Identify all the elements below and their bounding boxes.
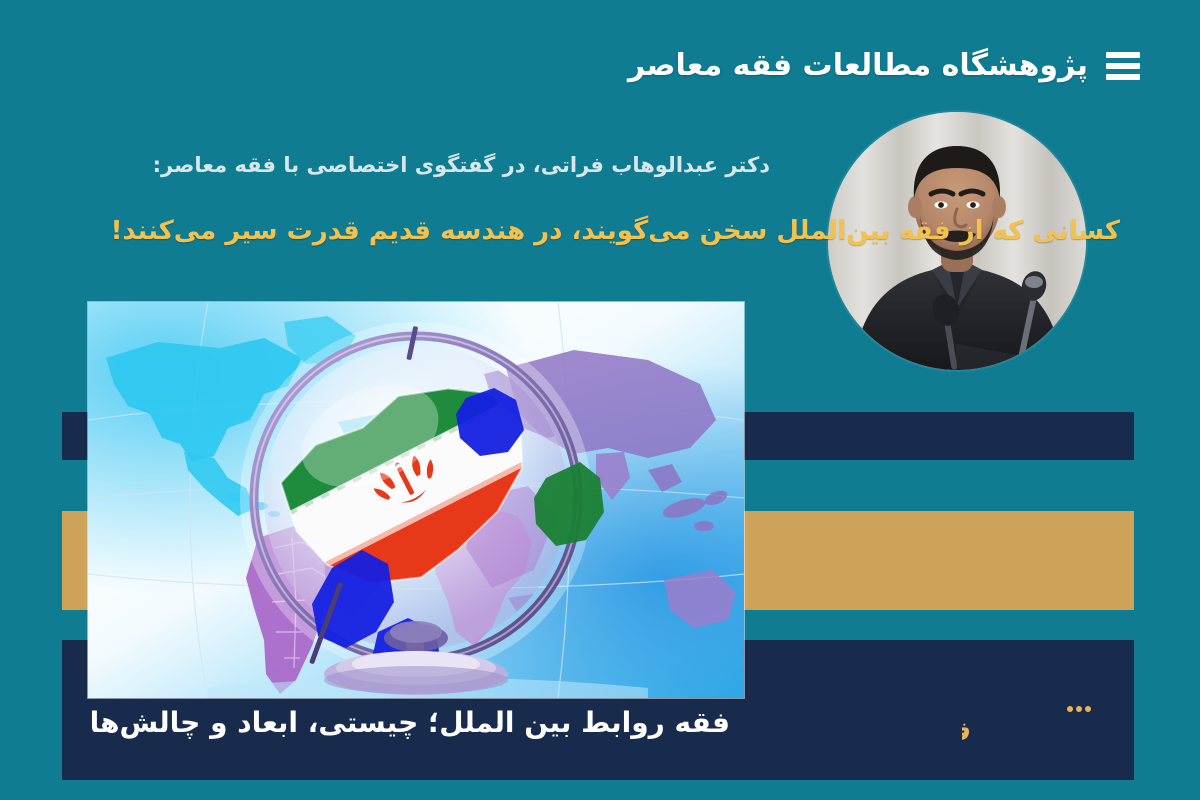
interview-headline: کسانی که از فقه بین‌الملل سخن می‌گویند، … xyxy=(170,212,1120,251)
poster-root: پژوهشگاه مطالعات فقه معاصر xyxy=(0,0,1200,800)
hamburger-bar-3 xyxy=(1106,74,1140,80)
site-header: پژوهشگاه مطالعات فقه معاصر xyxy=(60,34,1140,98)
brand-logo[interactable]: فقه معاصر xyxy=(962,700,1112,756)
article-illustration xyxy=(88,302,744,698)
interview-kicker: دکتر عبدالوهاب فراتی، در گفتگوی اختصاصی … xyxy=(170,150,770,182)
hamburger-menu-icon[interactable] xyxy=(1106,52,1140,80)
article-caption: فقه روابط بین الملل؛ چیستی، ابعاد و چالش… xyxy=(110,706,730,740)
hamburger-bar-1 xyxy=(1106,52,1140,58)
svg-text:فقه معاصر: فقه معاصر xyxy=(962,717,974,747)
site-title: پژوهشگاه مطالعات فقه معاصر xyxy=(628,51,1088,81)
hamburger-bar-2 xyxy=(1106,63,1140,69)
